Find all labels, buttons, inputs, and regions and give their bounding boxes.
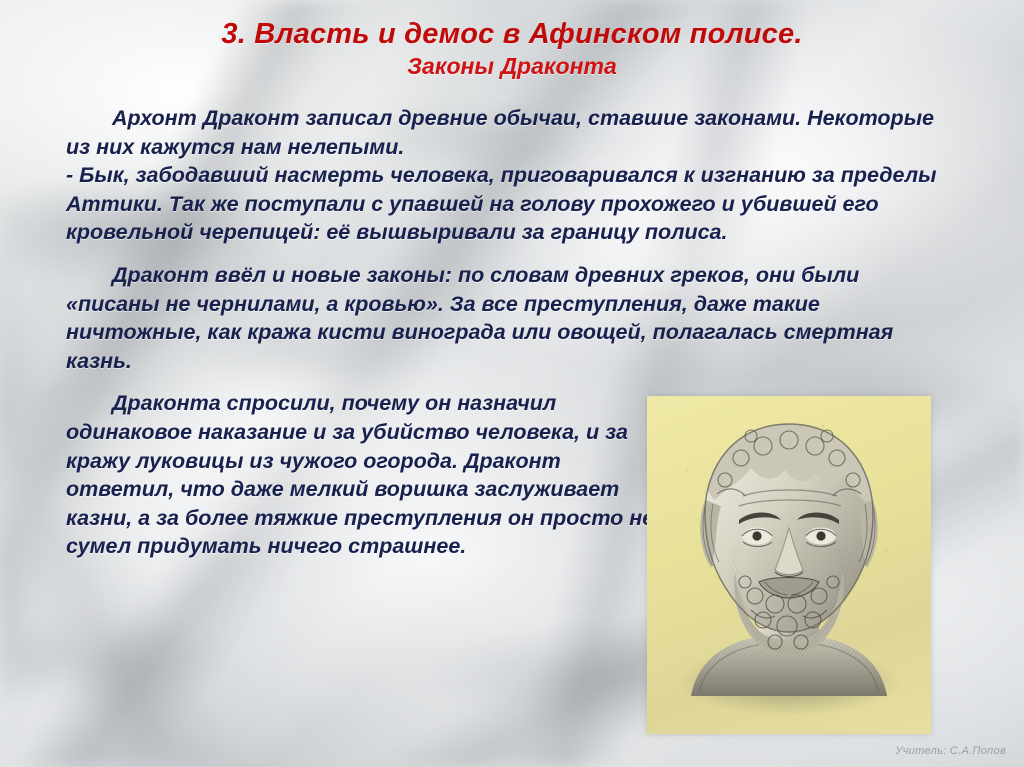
author-credit: Учитель: С.А.Попов — [895, 745, 1006, 757]
body-paragraph-3: Драконт ввёл и новые законы: по словам д… — [66, 261, 950, 375]
slide-title-block: 3. Власть и демос в Афинском полисе. Зак… — [0, 18, 1024, 80]
body-paragraph-1: Архонт Драконт записал древние обычаи, с… — [66, 104, 950, 161]
body-paragraph-2: - Бык, забодавший насмерть человека, при… — [66, 161, 950, 247]
greek-bust-engraving-icon — [647, 396, 931, 734]
slide-content: 3. Власть и демос в Афинском полисе. Зак… — [0, 0, 1024, 767]
slide-canvas: 3. Власть и демос в Афинском полисе. Зак… — [0, 0, 1024, 767]
slide-title: 3. Власть и демос в Афинском полисе. — [0, 18, 1024, 50]
body-paragraph-4: Драконта спросили, почему он назначил од… — [66, 389, 666, 561]
slide-subtitle: Законы Драконта — [0, 54, 1024, 80]
portrait-image — [647, 396, 931, 734]
